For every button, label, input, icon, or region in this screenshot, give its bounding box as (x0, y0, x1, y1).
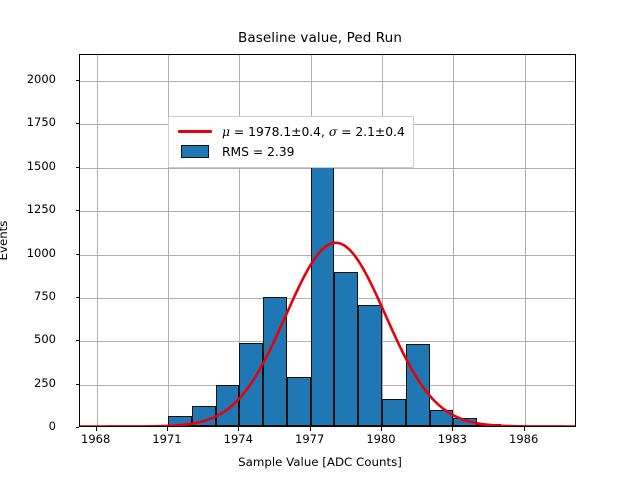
plot-inner (80, 55, 575, 426)
x-tick-mark (96, 427, 97, 431)
legend-label-fit: μ = 1978.1±0.4, σ = 2.1±0.4 (222, 125, 405, 139)
y-axis-label: Events (0, 54, 14, 427)
x-tick-label: 1977 (280, 432, 340, 446)
sigma-value-text: = 2.1±0.4 (337, 125, 405, 139)
x-tick-label: 1971 (137, 432, 197, 446)
gaussian-fit-curve (80, 55, 575, 426)
x-tick-label: 1974 (208, 432, 268, 446)
legend-label-rms: RMS = 2.39 (222, 145, 294, 159)
figure-canvas: Baseline value, Ped Run Events Sample Va… (0, 0, 640, 480)
legend-item-fit: μ = 1978.1±0.4, σ = 2.1±0.4 (177, 122, 405, 141)
legend-item-histogram: RMS = 2.39 (177, 142, 405, 161)
x-tick-label: 1980 (351, 432, 411, 446)
x-axis-label: Sample Value [ADC Counts] (0, 455, 640, 469)
mu-value-text: = 1978.1±0.4, (230, 125, 329, 139)
plot-area: μ = 1978.1±0.4, σ = 2.1±0.4 RMS = 2.39 (79, 54, 576, 427)
x-tick-mark (238, 427, 239, 431)
legend-patch-swatch-icon (177, 145, 213, 159)
legend-line-swatch-icon (177, 125, 213, 139)
sigma-symbol: σ (329, 125, 337, 139)
y-tick-label: 500 (0, 332, 56, 346)
y-tick-label: 1250 (0, 202, 56, 216)
x-tick-mark (381, 427, 382, 431)
y-tick-label: 1500 (0, 159, 56, 173)
x-tick-mark (167, 427, 168, 431)
x-tick-label: 1968 (66, 432, 126, 446)
y-tick-label: 0 (0, 419, 56, 433)
x-tick-mark (452, 427, 453, 431)
y-tick-label: 750 (0, 289, 56, 303)
y-tick-label: 1000 (0, 246, 56, 260)
x-tick-label: 1986 (494, 432, 554, 446)
y-tick-label: 1750 (0, 115, 56, 129)
x-tick-mark (524, 427, 525, 431)
mu-symbol: μ (222, 125, 230, 139)
y-tick-mark (76, 427, 80, 428)
fit-curve-path (80, 243, 575, 426)
y-tick-label: 250 (0, 376, 56, 390)
x-tick-mark (310, 427, 311, 431)
x-tick-label: 1983 (422, 432, 482, 446)
legend: μ = 1978.1±0.4, σ = 2.1±0.4 RMS = 2.39 (168, 116, 414, 168)
y-tick-label: 2000 (0, 72, 56, 86)
chart-title: Baseline value, Ped Run (0, 30, 640, 46)
